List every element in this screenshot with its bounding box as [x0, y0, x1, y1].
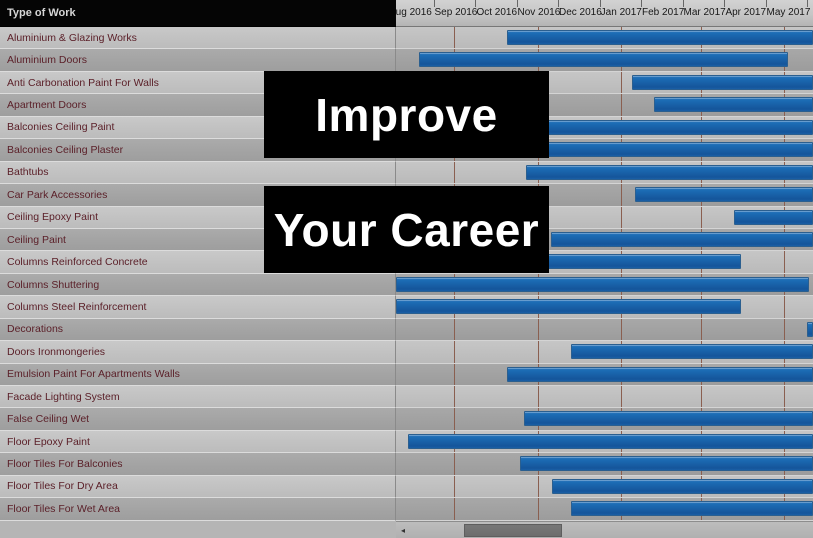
timeline-gridline: [621, 386, 622, 407]
row-label-text: Bathtubs: [7, 166, 48, 178]
timeline-gridline: [538, 386, 539, 407]
row-label-text: Decorations: [7, 323, 63, 335]
row-timeline-cell[interactable]: [396, 162, 813, 184]
timeline-header[interactable]: ug 2016Sep 2016Oct 2016Nov 2016Dec 2016J…: [396, 0, 813, 27]
row-timeline-cell[interactable]: [396, 408, 813, 430]
timeline-month-label: Ju: [808, 7, 813, 18]
row-timeline-cell[interactable]: [396, 49, 813, 71]
timeline-gridline: [538, 498, 539, 519]
gantt-bar[interactable]: [507, 367, 813, 382]
timeline-month-label: Sep 2016: [435, 7, 477, 18]
timeline-gridline: [454, 162, 455, 183]
row-label-text: Floor Tiles For Dry Area: [7, 480, 118, 492]
row-label-cell[interactable]: Columns Shuttering: [0, 274, 396, 296]
gantt-bar[interactable]: [526, 165, 813, 180]
timeline-gridline: [454, 27, 455, 48]
row-label-cell[interactable]: Floor Tiles For Wet Area: [0, 498, 396, 520]
timeline-gridline: [454, 364, 455, 385]
row-label-cell[interactable]: Columns Steel Reinforcement: [0, 296, 396, 318]
timeline-month-label: Nov 2016: [518, 7, 560, 18]
row-label-cell[interactable]: Doors Ironmongeries: [0, 341, 396, 363]
row-label-text: Anti Carbonation Paint For Walls: [7, 77, 159, 89]
gantt-bar[interactable]: [551, 232, 813, 247]
gantt-bar[interactable]: [507, 30, 813, 45]
table-row[interactable]: Facade Lighting System: [0, 386, 813, 408]
timeline-gridline: [454, 476, 455, 497]
table-row[interactable]: Floor Tiles For Balconies: [0, 453, 813, 475]
gantt-bar[interactable]: [807, 322, 813, 337]
timeline-gridline: [784, 251, 785, 272]
gantt-bar[interactable]: [419, 52, 788, 67]
row-label-cell[interactable]: Aluminium Doors: [0, 49, 396, 71]
row-timeline-cell[interactable]: [396, 274, 813, 296]
table-row[interactable]: Floor Tiles For Wet Area: [0, 498, 813, 520]
row-label-text: Car Park Accessories: [7, 189, 107, 201]
gantt-bar[interactable]: [654, 97, 813, 112]
table-row[interactable]: Floor Epoxy Paint: [0, 431, 813, 453]
timeline-gridline: [621, 94, 622, 115]
timeline-month-label: Feb 2017: [642, 7, 684, 18]
gantt-bar[interactable]: [632, 75, 813, 90]
timeline-gridline: [538, 341, 539, 362]
gantt-bar[interactable]: [520, 456, 813, 471]
row-label-text: Facade Lighting System: [7, 391, 120, 403]
row-label-cell[interactable]: Emulsion Paint For Apartments Walls: [0, 364, 396, 386]
timeline-gridline: [454, 498, 455, 519]
row-label-text: Doors Ironmongeries: [7, 346, 105, 358]
row-label-text: Balconies Ceiling Paint: [7, 121, 114, 133]
row-label-cell[interactable]: Floor Tiles For Balconies: [0, 453, 396, 475]
timeline-gridline: [784, 319, 785, 340]
timeline-tick: [641, 0, 642, 7]
row-label-cell[interactable]: Floor Epoxy Paint: [0, 431, 396, 453]
table-row[interactable]: Doors Ironmongeries: [0, 341, 813, 363]
timeline-gridline: [454, 319, 455, 340]
timeline-gridline: [784, 386, 785, 407]
row-label-text: Aluminium Doors: [7, 54, 87, 66]
timeline-tick: [517, 0, 518, 7]
table-row[interactable]: Columns Shuttering: [0, 274, 813, 296]
row-label-cell[interactable]: Facade Lighting System: [0, 386, 396, 408]
row-label-text: Floor Tiles For Balconies: [7, 458, 123, 470]
column-header-label: Type of Work: [7, 7, 76, 19]
timeline-tick: [724, 0, 725, 7]
row-timeline-cell[interactable]: [396, 341, 813, 363]
gantt-bar[interactable]: [524, 411, 813, 426]
row-timeline-cell[interactable]: [396, 498, 813, 520]
row-label-text: Apartment Doors: [7, 99, 86, 111]
timeline-tick: [766, 0, 767, 7]
gantt-bar[interactable]: [520, 120, 813, 135]
row-label-text: False Ceiling Wet: [7, 413, 89, 425]
table-row[interactable]: Floor Tiles For Dry Area: [0, 476, 813, 498]
timeline-tick: [558, 0, 559, 7]
timeline-month-label: ug 2016: [396, 7, 435, 18]
scrollbar-track[interactable]: [410, 523, 813, 538]
timeline-gridline: [454, 341, 455, 362]
table-row[interactable]: False Ceiling Wet: [0, 408, 813, 430]
table-row[interactable]: Decorations: [0, 319, 813, 341]
column-header-type-of-work[interactable]: Type of Work: [0, 0, 396, 27]
row-label-text: Columns Steel Reinforcement: [7, 301, 146, 313]
row-timeline-cell[interactable]: [396, 386, 813, 408]
timeline-gridline: [621, 207, 622, 228]
table-row[interactable]: Aluminium Doors: [0, 49, 813, 71]
timeline-gridline: [538, 476, 539, 497]
gantt-bar[interactable]: [552, 479, 813, 494]
gantt-bar[interactable]: [734, 210, 813, 225]
row-timeline-cell[interactable]: [396, 476, 813, 498]
row-label-text: Floor Epoxy Paint: [7, 436, 90, 448]
overlay-banner-improve: Improve: [264, 71, 549, 158]
row-label-text: Columns Shuttering: [7, 279, 99, 291]
row-label-cell[interactable]: Floor Tiles For Dry Area: [0, 476, 396, 498]
timeline-tick: [683, 0, 684, 7]
timeline-gridline: [454, 386, 455, 407]
row-label-text: Ceiling Paint: [7, 234, 66, 246]
chart-header: Type of Work ug 2016Sep 2016Oct 2016Nov …: [0, 0, 813, 27]
row-timeline-cell[interactable]: [396, 431, 813, 453]
timeline-gridline: [621, 319, 622, 340]
timeline-tick: [600, 0, 601, 7]
table-row[interactable]: Emulsion Paint For Apartments Walls: [0, 364, 813, 386]
gantt-bar[interactable]: [571, 344, 813, 359]
timeline-tick: [475, 0, 476, 7]
timeline-month-label: Apr 2017: [725, 7, 767, 18]
timeline-gridline: [538, 319, 539, 340]
table-row[interactable]: Bathtubs: [0, 162, 813, 184]
row-label-text: Aluminium & Glazing Works: [7, 32, 137, 44]
timeline-gridline: [784, 296, 785, 317]
table-row[interactable]: Aluminium & Glazing Works: [0, 27, 813, 49]
gantt-bar[interactable]: [396, 299, 741, 314]
table-row[interactable]: Columns Steel Reinforcement: [0, 296, 813, 318]
gantt-bar[interactable]: [396, 277, 809, 292]
row-label-cell[interactable]: Decorations: [0, 319, 396, 341]
gantt-chart-app: Type of Work ug 2016Sep 2016Oct 2016Nov …: [0, 0, 813, 538]
row-timeline-cell[interactable]: [396, 319, 813, 341]
timeline-gridline: [621, 184, 622, 205]
row-label-text: Ceiling Epoxy Paint: [7, 211, 98, 223]
timeline-month-label: Jan 2017: [601, 7, 643, 18]
scrollbar-thumb[interactable]: [464, 524, 562, 537]
row-timeline-cell[interactable]: [396, 296, 813, 318]
row-label-text: Columns Reinforced Concrete: [7, 256, 148, 268]
timeline-month-label: Oct 2016: [476, 7, 518, 18]
gantt-bar[interactable]: [408, 434, 813, 449]
timeline-month-label: May 2017: [767, 7, 809, 18]
row-label-cell[interactable]: Aluminium & Glazing Works: [0, 27, 396, 49]
row-timeline-cell[interactable]: [396, 453, 813, 475]
gantt-bar[interactable]: [635, 187, 813, 202]
row-label-text: Balconies Ceiling Plaster: [7, 144, 123, 156]
timeline-month-label: Dec 2016: [559, 7, 601, 18]
timeline-gridline: [701, 386, 702, 407]
row-label-cell[interactable]: False Ceiling Wet: [0, 408, 396, 430]
row-label-text: Emulsion Paint For Apartments Walls: [7, 368, 180, 380]
timeline-tick: [434, 0, 435, 7]
timeline-gridline: [701, 207, 702, 228]
overlay-banner-career: Your Career: [264, 186, 549, 273]
timeline-gridline: [621, 72, 622, 93]
timeline-gridline: [454, 453, 455, 474]
timeline-month-label: Mar 2017: [684, 7, 726, 18]
timeline-gridline: [701, 319, 702, 340]
timeline-tick: [807, 0, 808, 7]
row-timeline-cell[interactable]: [396, 364, 813, 386]
row-label-text: Floor Tiles For Wet Area: [7, 503, 120, 515]
horizontal-scrollbar[interactable]: ◂: [396, 521, 813, 538]
gantt-bar[interactable]: [571, 501, 813, 516]
row-label-cell[interactable]: Bathtubs: [0, 162, 396, 184]
timeline-gridline: [454, 408, 455, 429]
row-timeline-cell[interactable]: [396, 27, 813, 49]
scroll-left-arrow-icon[interactable]: ◂: [396, 523, 410, 538]
